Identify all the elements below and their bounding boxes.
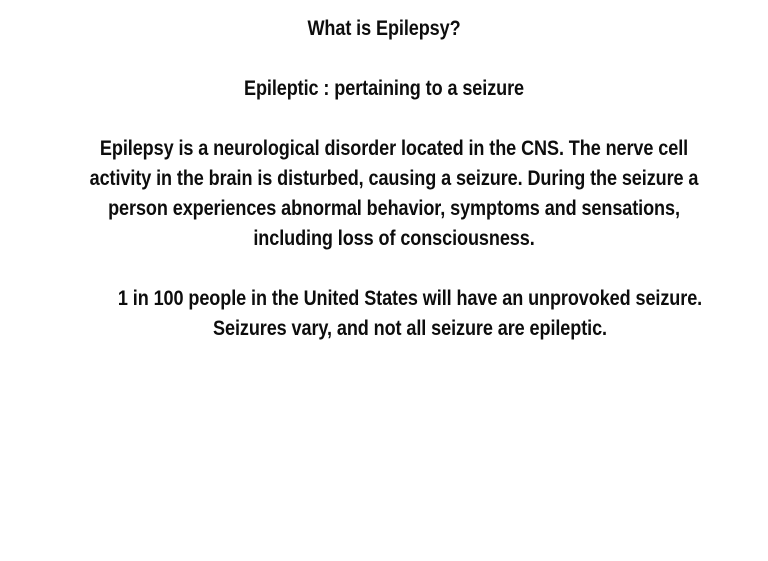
slide-empty-area xyxy=(16,344,752,561)
paragraph-spacer xyxy=(16,254,752,284)
title-spacer xyxy=(16,44,752,74)
heading-spacer xyxy=(16,104,752,134)
page-title: What is Epilepsy? xyxy=(68,14,701,44)
definition-heading: Epileptic : pertaining to a seizure xyxy=(68,74,701,104)
slide-canvas: What is Epilepsy? Epileptic : pertaining… xyxy=(0,0,768,561)
definition-paragraph: Epilepsy is a neurological disorder loca… xyxy=(69,134,719,254)
statistics-paragraph: 1 in 100 people in the United States wil… xyxy=(71,284,749,344)
